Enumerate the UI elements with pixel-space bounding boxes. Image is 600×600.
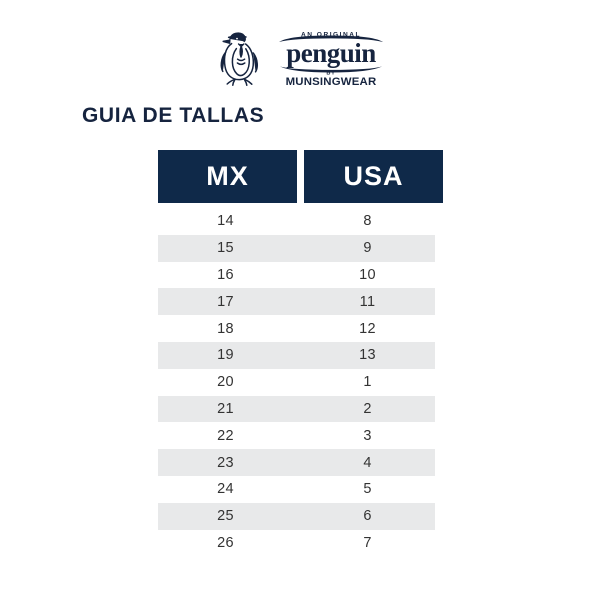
table-row: 19 13 bbox=[158, 342, 435, 369]
cell-mx: 19 bbox=[158, 347, 295, 363]
cell-mx: 15 bbox=[158, 240, 295, 256]
table-row: 17 11 bbox=[158, 288, 435, 315]
column-header-mx: MX bbox=[158, 150, 297, 203]
cell-mx: 20 bbox=[158, 374, 295, 390]
size-guide-table: MX USA 14 8 15 9 16 10 17 11 18 12 19 13… bbox=[158, 150, 443, 556]
cell-usa: 7 bbox=[295, 535, 435, 551]
table-row: 25 6 bbox=[158, 503, 435, 530]
cell-mx: 26 bbox=[158, 535, 295, 551]
cell-usa: 10 bbox=[295, 267, 435, 283]
cell-mx: 17 bbox=[158, 294, 295, 310]
cell-mx: 24 bbox=[158, 481, 295, 497]
table-row: 20 1 bbox=[158, 369, 435, 396]
cell-mx: 22 bbox=[158, 428, 295, 444]
cell-usa: 3 bbox=[295, 428, 435, 444]
cell-usa: 6 bbox=[295, 508, 435, 524]
page-title: GUIA DE TALLAS bbox=[82, 104, 264, 128]
table-row: 18 12 bbox=[158, 315, 435, 342]
table-header-row: MX USA bbox=[158, 150, 443, 203]
table-row: 24 5 bbox=[158, 476, 435, 503]
cell-usa: 5 bbox=[295, 481, 435, 497]
cell-usa: 2 bbox=[295, 401, 435, 417]
table-row: 14 8 bbox=[158, 208, 435, 235]
table-body: 14 8 15 9 16 10 17 11 18 12 19 13 20 1 2… bbox=[158, 208, 435, 556]
table-row: 16 10 bbox=[158, 262, 435, 289]
cell-mx: 14 bbox=[158, 213, 295, 229]
cell-mx: 18 bbox=[158, 321, 295, 337]
cell-usa: 8 bbox=[295, 213, 435, 229]
cell-usa: 4 bbox=[295, 455, 435, 471]
cell-mx: 23 bbox=[158, 455, 295, 471]
cell-mx: 16 bbox=[158, 267, 295, 283]
cell-usa: 13 bbox=[295, 347, 435, 363]
cell-usa: 12 bbox=[295, 321, 435, 337]
table-row: 26 7 bbox=[158, 530, 435, 557]
cell-usa: 1 bbox=[295, 374, 435, 390]
table-row: 15 9 bbox=[158, 235, 435, 262]
cell-mx: 21 bbox=[158, 401, 295, 417]
table-row: 21 2 bbox=[158, 396, 435, 423]
cell-mx: 25 bbox=[158, 508, 295, 524]
column-header-usa: USA bbox=[304, 150, 443, 203]
penguin-icon bbox=[214, 28, 268, 88]
cell-usa: 11 bbox=[295, 294, 435, 310]
cell-usa: 9 bbox=[295, 240, 435, 256]
brand-name-text: penguin bbox=[286, 38, 376, 68]
brand-parent-text: MUNSINGWEAR bbox=[286, 76, 377, 87]
table-row: 23 4 bbox=[158, 449, 435, 476]
table-row: 22 3 bbox=[158, 422, 435, 449]
brand-wordmark-icon: AN ORIGINAL penguin BY MUNSINGWEAR bbox=[276, 29, 386, 87]
brand-logo: AN ORIGINAL penguin BY MUNSINGWEAR bbox=[0, 24, 600, 92]
